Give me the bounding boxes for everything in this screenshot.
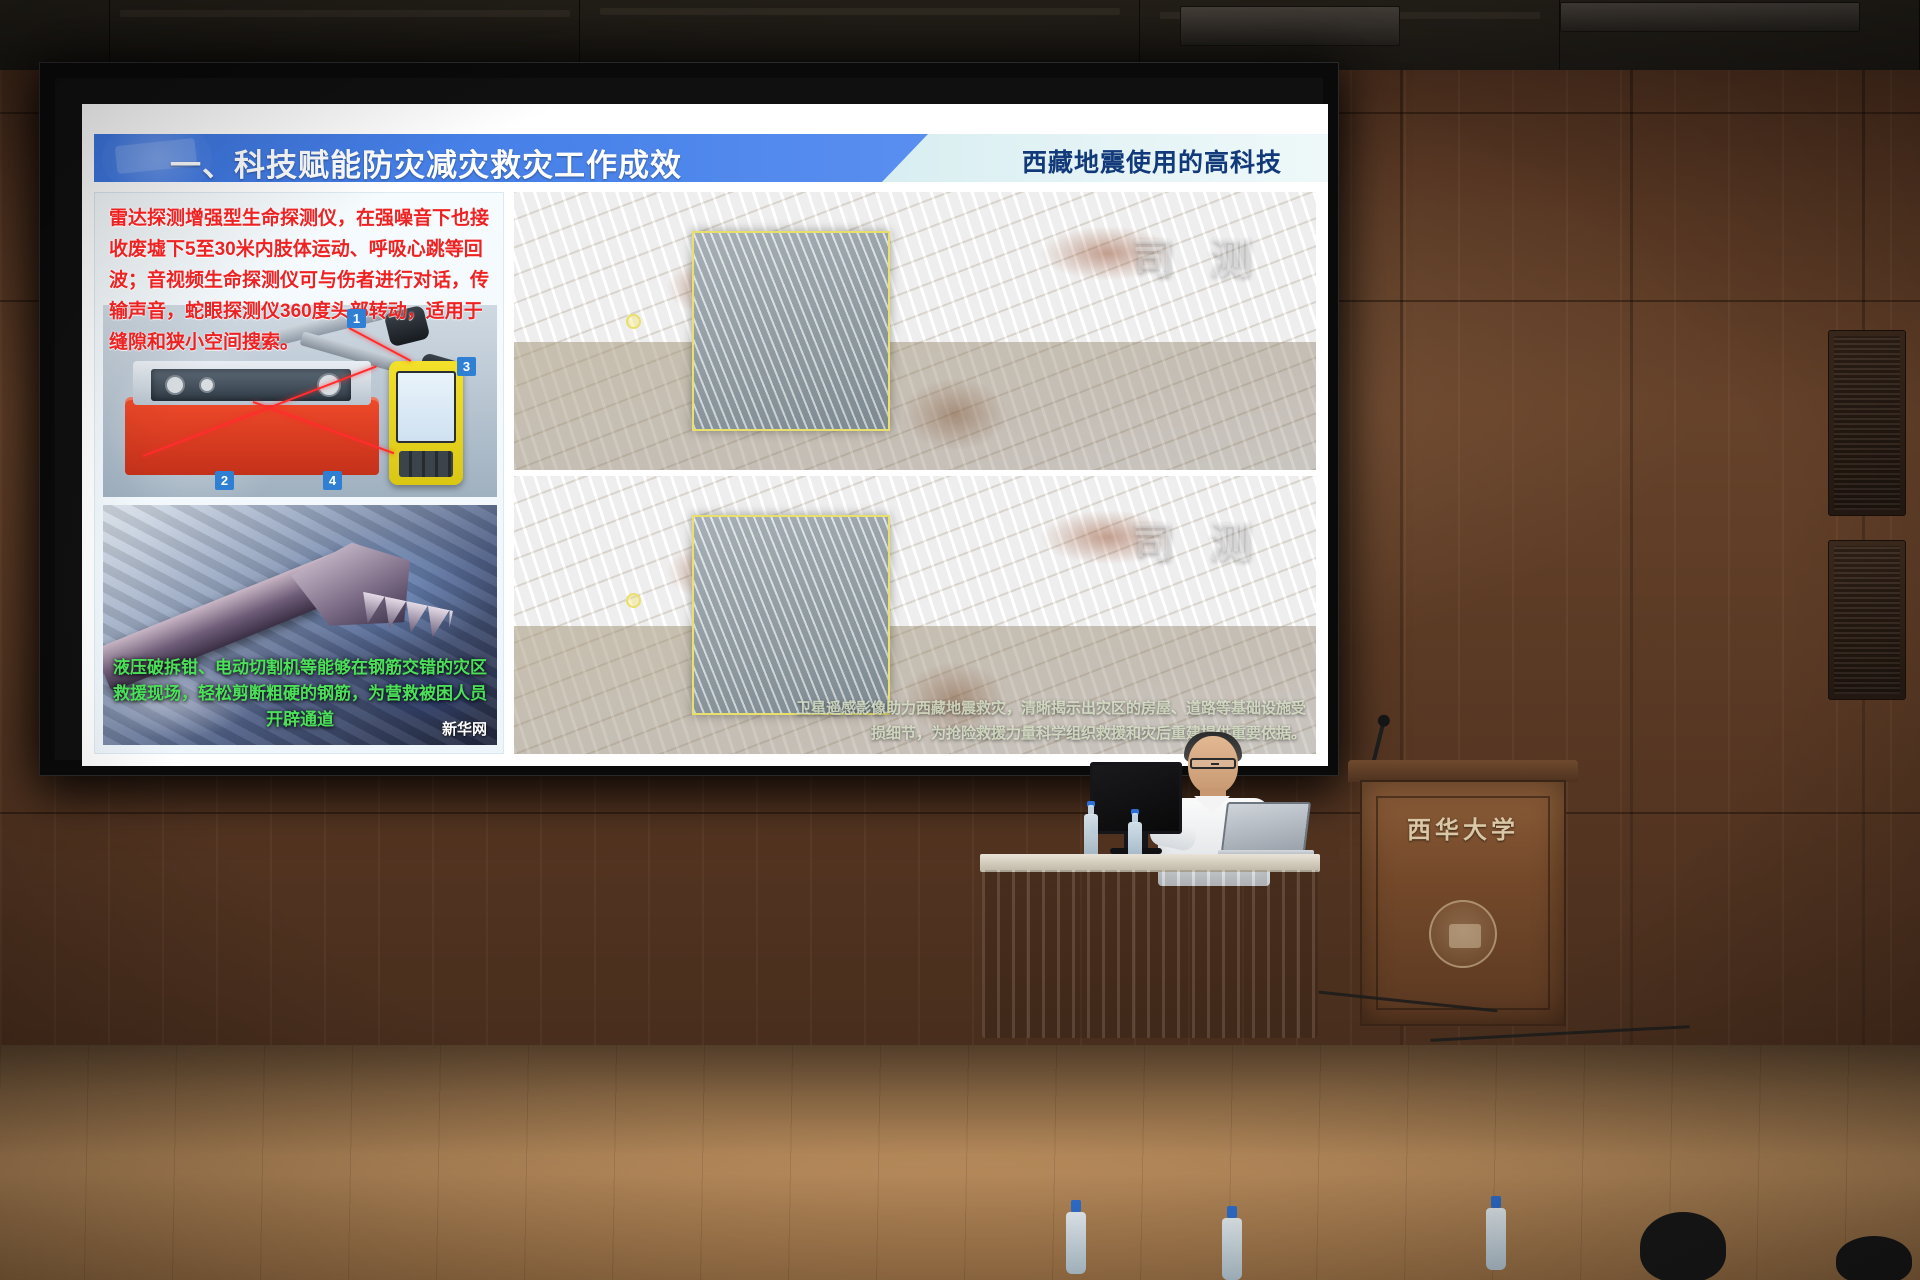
water-bottle [1486,1208,1506,1270]
presentation-slide: 一、科技赋能防灾减灾救灾工作成效 西藏地震使用的高科技 [82,104,1328,766]
ceiling-vent-icon [1560,2,1860,32]
left-content-panel: 1 2 3 4 雷达探测增强型生命探测仪，在强噪音下也接收废墟下5至30米内肢体… [94,192,504,754]
satellite-imagery-panel: 司 测 司 测 卫星遥感影像助力西藏地震救灾，清晰揭示出灾区的房屋、道路等基础设… [514,192,1316,754]
projection-screen: 一、科技赋能防灾减灾救灾工作成效 西藏地震使用的高科技 [39,62,1339,776]
lectern-top [1348,760,1578,782]
lectern-front: 西华大学 [1360,780,1566,1026]
water-bottle [1222,1218,1242,1280]
audience-head [1640,1212,1726,1280]
hydraulic-cutter-photo: 液压破拆钳、电动切割机等能够在钢筋交错的灾区救援现场，轻松剪断粗硬的钢筋，为营救… [103,505,497,745]
presenter-table [980,854,1320,1054]
glasses-icon [1190,758,1236,769]
callout-marker-3: 3 [457,357,476,376]
table-skirt [982,870,1318,1038]
callout-marker-2: 2 [215,471,234,490]
terminal-keypad [399,451,453,477]
cutter-description-text: 液压破拆钳、电动切割机等能够在钢筋交错的灾区救援现场，轻松剪断粗硬的钢筋，为营救… [113,655,487,733]
satellite-watermark: 司 测 [1132,509,1264,570]
detector-case [125,397,379,475]
radar-description-text: 雷达探测增强型生命探测仪，在强噪音下也接收废墟下5至30米内肢体运动、呼吸心跳等… [109,203,493,358]
university-emblem-icon [1429,900,1497,968]
zoom-inset-box [692,515,890,715]
slide-title: 一、科技赋能防灾减灾救灾工作成效 [170,140,682,185]
satellite-image-top: 司 测 [514,192,1316,470]
xinhua-watermark: 新华网 [442,718,487,739]
wall-speaker [1828,330,1906,516]
terminal-screen [396,371,456,443]
callout-marker-1: 1 [347,309,366,328]
ceiling-vent-icon [1180,6,1400,46]
laptop-lid [1221,802,1311,852]
audience-head [1836,1236,1912,1280]
water-bottle [1066,1212,1086,1274]
wall-speaker [1828,540,1906,700]
slide-body: 1 2 3 4 雷达探测增强型生命探测仪，在强噪音下也接收废墟下5至30米内肢体… [94,192,1316,754]
floor-shadow [0,1045,1920,1155]
handheld-terminal [389,361,463,485]
location-marker-icon [626,593,641,608]
ridge-shading [514,342,1316,470]
satellite-watermark: 司 测 [1132,225,1264,286]
zoom-inset-box [692,231,890,431]
callout-marker-4: 4 [323,471,342,490]
slide-subtitle: 西藏地震使用的高科技 [1022,143,1282,179]
university-name: 西华大学 [1362,810,1564,845]
scene-root: 一、科技赋能防灾减灾救灾工作成效 西藏地震使用的高科技 [0,0,1920,1280]
satellite-image-bottom: 司 测 卫星遥感影像助力西藏地震救灾，清晰揭示出灾区的房屋、道路等基础设施受损细… [514,476,1316,754]
slide-header: 一、科技赋能防灾减灾救灾工作成效 西藏地震使用的高科技 [82,134,1328,182]
